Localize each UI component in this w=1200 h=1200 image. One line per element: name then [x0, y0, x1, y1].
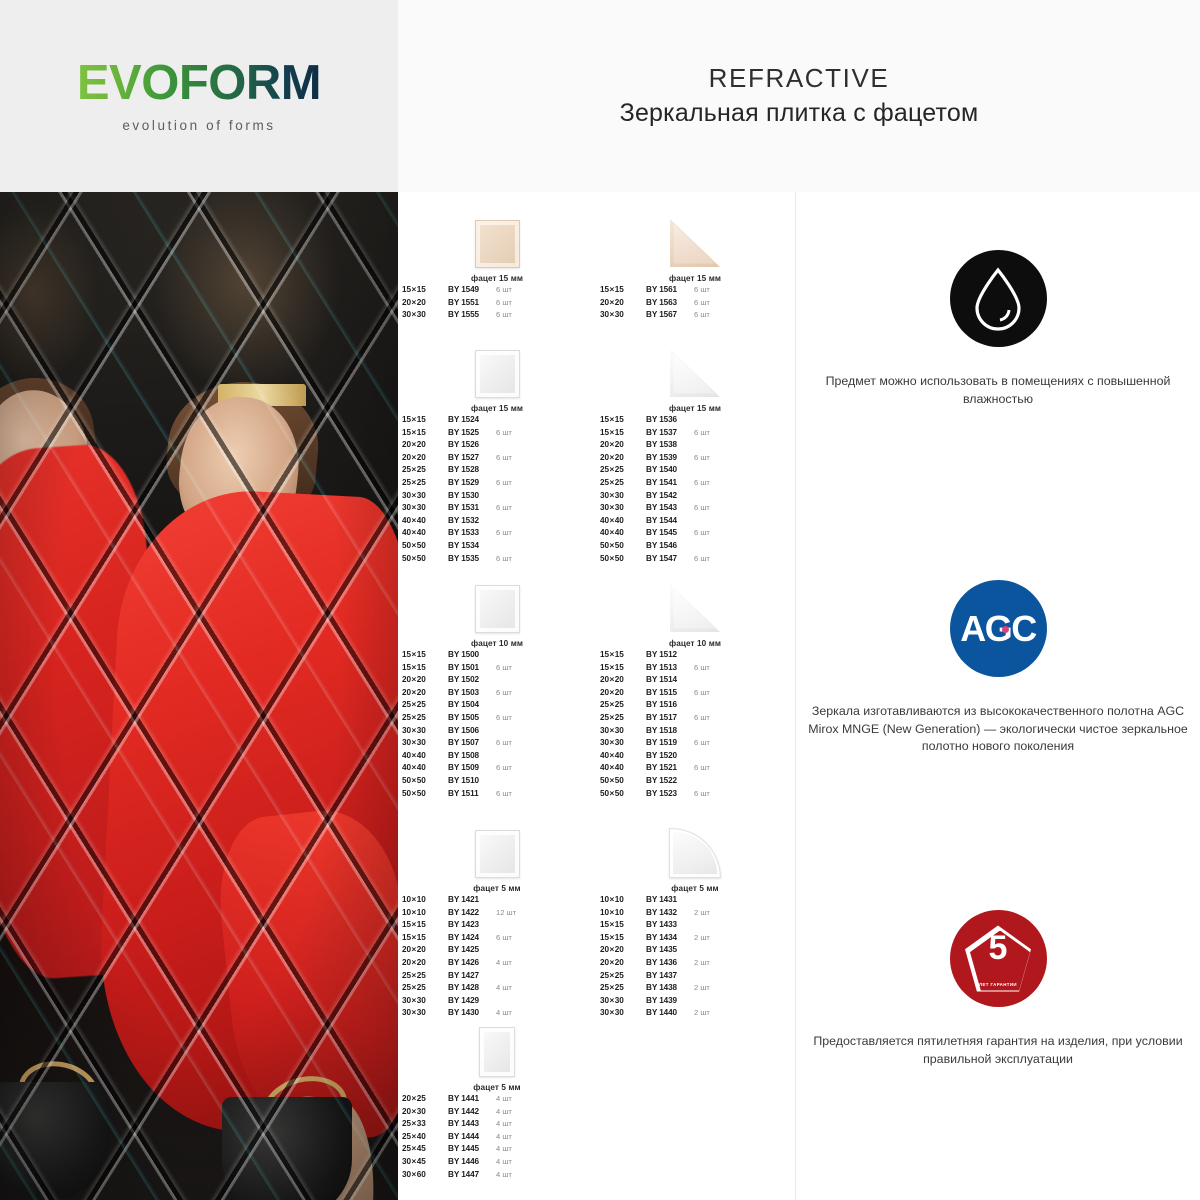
- cell-code: BY 1545: [646, 528, 694, 537]
- product-rows: 15 × 15BY 15616 шт20 × 20BY 15636 шт30 ×…: [596, 285, 794, 323]
- facet-label: фацет 10 мм: [596, 639, 794, 648]
- product-catalog: фацет 15 мм15 × 15BY 15496 шт20 × 20BY 1…: [398, 192, 795, 1200]
- cell-size: 15 × 15: [600, 285, 646, 294]
- table-row[interactable]: 50 × 50BY 1534: [402, 541, 596, 554]
- cell-quantity: 6 шт: [694, 298, 728, 307]
- table-row[interactable]: 20 × 20BY 1526: [402, 440, 596, 453]
- table-row[interactable]: 25 × 25BY 14382 шт: [600, 983, 794, 996]
- cell-size: 20 × 20: [600, 945, 646, 954]
- table-row[interactable]: 20 × 30BY 14424 шт: [402, 1107, 596, 1120]
- table-row[interactable]: 20 × 20BY 15036 шт: [402, 688, 596, 701]
- table-row[interactable]: 25 × 25BY 15176 шт: [600, 713, 794, 726]
- cell-size: 25 × 25: [600, 465, 646, 474]
- cell-code: BY 1540: [646, 465, 694, 474]
- catalog-column-silver-15-left: фацет 15 мм15 × 15BY 152415 × 15BY 15256…: [398, 336, 596, 566]
- cell-quantity: 6 шт: [496, 738, 530, 747]
- tile-swatch-wrap: [596, 206, 794, 268]
- cell-size: 20 × 20: [402, 298, 448, 307]
- table-row[interactable]: 40 × 40BY 15336 шт: [402, 528, 596, 541]
- table-row[interactable]: 15 × 15BY 1433: [600, 920, 794, 933]
- table-row[interactable]: 15 × 15BY 15016 шт: [402, 663, 596, 676]
- cell-quantity: 2 шт: [694, 933, 728, 942]
- cell-code: BY 1527: [448, 453, 496, 462]
- cell-code: BY 1421: [448, 895, 496, 904]
- table-row[interactable]: 50 × 50BY 15356 шт: [402, 554, 596, 567]
- table-row[interactable]: 20 × 20BY 15156 шт: [600, 688, 794, 701]
- product-rows: 15 × 15BY 151215 × 15BY 15136 шт20 × 20B…: [596, 650, 794, 801]
- cell-code: BY 1423: [448, 920, 496, 929]
- table-row[interactable]: 15 × 15BY 14342 шт: [600, 933, 794, 946]
- table-row[interactable]: 15 × 15BY 15376 шт: [600, 428, 794, 441]
- agc-logo-dot: [1002, 626, 1009, 633]
- cell-code: BY 1535: [448, 554, 496, 563]
- cell-size: 50 × 50: [402, 554, 448, 563]
- table-row[interactable]: 25 × 25BY 1504: [402, 700, 596, 713]
- cell-code: BY 1521: [646, 763, 694, 772]
- cell-quantity: 6 шт: [496, 763, 530, 772]
- cell-code: BY 1438: [646, 983, 694, 992]
- table-row[interactable]: 15 × 15BY 15616 шт: [600, 285, 794, 298]
- table-row[interactable]: 40 × 40BY 1520: [600, 751, 794, 764]
- cell-code: BY 1532: [448, 516, 496, 525]
- cell-code: BY 1505: [448, 713, 496, 722]
- table-row[interactable]: 10 × 10BY 1421: [402, 895, 596, 908]
- cell-size: 30 × 30: [402, 310, 448, 319]
- table-row[interactable]: 10 × 10BY 14322 шт: [600, 908, 794, 921]
- cell-quantity: 2 шт: [694, 958, 728, 967]
- table-row[interactable]: 25 × 45BY 14454 шт: [402, 1144, 596, 1157]
- cell-size: 25 × 25: [402, 971, 448, 980]
- cell-code: BY 1511: [448, 789, 496, 798]
- page-subtitle: Зеркальная плитка с фацетом: [620, 99, 979, 128]
- catalog-column-silver-15-right: фацет 15 мм15 × 15BY 153615 × 15BY 15376…: [596, 336, 794, 566]
- cell-code: BY 1546: [646, 541, 694, 550]
- table-row[interactable]: 25 × 33BY 14434 шт: [402, 1119, 596, 1132]
- agc-logo-icon: AGC: [950, 580, 1047, 677]
- warranty-caption: ЛЕТ ГАРАНТИИ: [965, 982, 1031, 987]
- cell-code: BY 1428: [448, 983, 496, 992]
- table-row[interactable]: 30 × 30BY 15676 шт: [600, 310, 794, 323]
- cell-size: 20 × 20: [402, 945, 448, 954]
- table-row[interactable]: 15 × 15BY 14246 шт: [402, 933, 596, 946]
- cell-code: BY 1446: [448, 1157, 496, 1166]
- cell-size: 25 × 25: [600, 478, 646, 487]
- table-row[interactable]: 30 × 30BY 15196 шт: [600, 738, 794, 751]
- cell-code: BY 1509: [448, 763, 496, 772]
- feature-moisture: Предмет можно использовать в помещениях …: [796, 250, 1200, 408]
- table-row[interactable]: 15 × 15BY 1423: [402, 920, 596, 933]
- cell-quantity: 6 шт: [694, 428, 728, 437]
- cell-size: 30 × 30: [600, 738, 646, 747]
- table-row[interactable]: 20 × 20BY 15636 шт: [600, 298, 794, 311]
- table-row[interactable]: 30 × 30BY 15556 шт: [402, 310, 596, 323]
- cell-quantity: 6 шт: [496, 298, 530, 307]
- cell-size: 50 × 50: [600, 776, 646, 785]
- cell-size: 20 × 20: [600, 298, 646, 307]
- cell-size: 10 × 10: [600, 895, 646, 904]
- cell-code: BY 1539: [646, 453, 694, 462]
- cell-code: BY 1508: [448, 751, 496, 760]
- cell-code: BY 1519: [646, 738, 694, 747]
- cell-size: 30 × 30: [402, 996, 448, 1005]
- table-row[interactable]: 20 × 20BY 1514: [600, 675, 794, 688]
- table-row[interactable]: 50 × 50BY 1546: [600, 541, 794, 554]
- cell-quantity: 4 шт: [496, 1170, 530, 1179]
- cell-size: 30 × 30: [600, 310, 646, 319]
- table-row[interactable]: 15 × 15BY 1500: [402, 650, 596, 663]
- table-row[interactable]: 25 × 25BY 15416 шт: [600, 478, 794, 491]
- product-rows: 15 × 15BY 152415 × 15BY 15256 шт20 × 20B…: [398, 415, 596, 566]
- table-row[interactable]: 50 × 50BY 15476 шт: [600, 554, 794, 567]
- cell-code: BY 1431: [646, 895, 694, 904]
- badge-holder: [796, 250, 1200, 347]
- logo-tagline: evolution of forms: [122, 118, 275, 133]
- cell-quantity: 6 шт: [694, 503, 728, 512]
- feature-description: Предоставляется пятилетняя гарантия на и…: [796, 1033, 1200, 1068]
- cell-quantity: 6 шт: [496, 933, 530, 942]
- cell-quantity: 6 шт: [694, 478, 728, 487]
- table-row[interactable]: 40 × 40BY 15216 шт: [600, 763, 794, 776]
- cell-size: 20 × 20: [402, 958, 448, 967]
- logo-area: EVOFORM evolution of forms: [0, 0, 398, 192]
- tile-swatch-wrap: [398, 336, 596, 398]
- table-row[interactable]: 30 × 30BY 15436 шт: [600, 503, 794, 516]
- cell-code: BY 1523: [646, 789, 694, 798]
- cell-code: BY 1516: [646, 700, 694, 709]
- cell-code: BY 1422: [448, 908, 496, 917]
- cell-size: 20 × 20: [600, 440, 646, 449]
- cell-size: 30 × 30: [600, 726, 646, 735]
- cell-size: 20 × 20: [402, 688, 448, 697]
- table-row[interactable]: 20 × 20BY 14264 шт: [402, 958, 596, 971]
- cell-quantity: 2 шт: [694, 983, 728, 992]
- tile-swatch-wrap: [398, 206, 596, 268]
- cell-code: BY 1551: [448, 298, 496, 307]
- cell-size: 25 × 25: [402, 700, 448, 709]
- cell-quantity: 6 шт: [496, 428, 530, 437]
- cell-size: 40 × 40: [600, 763, 646, 772]
- table-row[interactable]: 10 × 10BY 142212 шт: [402, 908, 596, 921]
- product-group-silver-15: фацет 15 мм15 × 15BY 152415 × 15BY 15256…: [398, 336, 795, 566]
- product-group-silver-5-rect: фацет 5 мм20 × 25BY 14414 шт20 × 30BY 14…: [398, 1015, 795, 1182]
- cell-size: 15 × 15: [600, 428, 646, 437]
- product-rows: 10 × 10BY 142110 × 10BY 142212 шт15 × 15…: [398, 895, 596, 1021]
- table-row[interactable]: 30 × 30BY 1530: [402, 491, 596, 504]
- cell-code: BY 1512: [646, 650, 694, 659]
- tile-swatch-triangle: [669, 218, 721, 268]
- table-row[interactable]: 50 × 50BY 1522: [600, 776, 794, 789]
- tile-swatch-square: [475, 220, 520, 268]
- cell-code: BY 1567: [646, 310, 694, 319]
- cell-code: BY 1541: [646, 478, 694, 487]
- table-row[interactable]: 25 × 25BY 1528: [402, 465, 596, 478]
- cell-code: BY 1436: [646, 958, 694, 967]
- catalog-column-silver-5-left: фацет 5 мм10 × 10BY 142110 × 10BY 142212…: [398, 816, 596, 1021]
- table-row[interactable]: 20 × 20BY 1425: [402, 945, 596, 958]
- tile-swatch-wrap: [596, 571, 794, 633]
- table-row[interactable]: 30 × 30BY 1518: [600, 726, 794, 739]
- cell-size: 50 × 50: [402, 776, 448, 785]
- table-row[interactable]: 30 × 30BY 15076 шт: [402, 738, 596, 751]
- facet-label: фацет 5 мм: [398, 884, 596, 893]
- table-row[interactable]: 20 × 20BY 15396 шт: [600, 453, 794, 466]
- cell-code: BY 1513: [646, 663, 694, 672]
- hero-photo: [0, 192, 398, 1200]
- cell-size: 15 × 15: [402, 415, 448, 424]
- cell-quantity: 4 шт: [496, 1119, 530, 1128]
- cell-size: 25 × 25: [402, 713, 448, 722]
- cell-size: 10 × 10: [402, 895, 448, 904]
- table-row[interactable]: 40 × 40BY 1544: [600, 516, 794, 529]
- page-title: REFRACTIVE: [709, 64, 890, 94]
- cell-code: BY 1424: [448, 933, 496, 942]
- cell-code: BY 1426: [448, 958, 496, 967]
- feature-warranty: 5ЛЕТ ГАРАНТИИПредоставляется пятилетняя …: [796, 910, 1200, 1068]
- cell-quantity: 6 шт: [496, 554, 530, 563]
- cell-size: 15 × 15: [600, 933, 646, 942]
- table-row[interactable]: 10 × 10BY 1431: [600, 895, 794, 908]
- title-area: REFRACTIVE Зеркальная плитка с фацетом: [398, 0, 1200, 192]
- table-row[interactable]: 40 × 40BY 1532: [402, 516, 596, 529]
- cell-code: BY 1504: [448, 700, 496, 709]
- cell-size: 10 × 10: [402, 908, 448, 917]
- cell-size: 25 × 25: [402, 983, 448, 992]
- table-row[interactable]: 25 × 25BY 1427: [402, 971, 596, 984]
- table-row[interactable]: 25 × 25BY 1540: [600, 465, 794, 478]
- features-panel: Предмет можно использовать в помещениях …: [796, 192, 1200, 1200]
- table-row[interactable]: 20 × 20BY 14362 шт: [600, 958, 794, 971]
- cell-quantity: 6 шт: [496, 688, 530, 697]
- cell-code: BY 1517: [646, 713, 694, 722]
- table-row[interactable]: 30 × 30BY 1429: [402, 996, 596, 1009]
- cell-quantity: 12 шт: [496, 908, 530, 917]
- cell-size: 20 × 20: [600, 688, 646, 697]
- page-header: EVOFORM evolution of forms REFRACTIVE Зе…: [0, 0, 1200, 192]
- table-row[interactable]: 25 × 25BY 15296 шт: [402, 478, 596, 491]
- tile-swatch-square: [475, 585, 520, 633]
- cell-quantity: 4 шт: [496, 983, 530, 992]
- cell-size: 20 × 20: [600, 675, 646, 684]
- cell-code: BY 1435: [646, 945, 694, 954]
- cell-code: BY 1538: [646, 440, 694, 449]
- tile-swatch-square: [475, 350, 520, 398]
- cell-size: 30 × 45: [402, 1157, 448, 1166]
- cell-size: 15 × 15: [402, 285, 448, 294]
- cell-quantity: 6 шт: [496, 713, 530, 722]
- cell-code: BY 1542: [646, 491, 694, 500]
- cell-size: 25 × 25: [600, 713, 646, 722]
- cell-quantity: 6 шт: [496, 453, 530, 462]
- table-row[interactable]: 25 × 25BY 1437: [600, 971, 794, 984]
- cell-size: 15 × 15: [402, 663, 448, 672]
- cell-size: 20 × 25: [402, 1094, 448, 1103]
- table-row[interactable]: 20 × 20BY 15276 шт: [402, 453, 596, 466]
- catalog-column-empty: [596, 1015, 794, 1182]
- cell-size: 50 × 50: [402, 541, 448, 550]
- table-row[interactable]: 40 × 40BY 15096 шт: [402, 763, 596, 776]
- cell-size: 20 × 30: [402, 1107, 448, 1116]
- cell-size: 40 × 40: [402, 516, 448, 525]
- cell-quantity: 6 шт: [496, 503, 530, 512]
- facet-label: фацет 15 мм: [596, 404, 794, 413]
- cell-quantity: 6 шт: [694, 554, 728, 563]
- tile-swatch-wrap: [398, 816, 596, 878]
- cell-quantity: 6 шт: [694, 789, 728, 798]
- cell-quantity: 6 шт: [694, 453, 728, 462]
- cell-code: BY 1526: [448, 440, 496, 449]
- table-row[interactable]: 20 × 20BY 1538: [600, 440, 794, 453]
- table-row[interactable]: 50 × 50BY 1510: [402, 776, 596, 789]
- table-row[interactable]: 30 × 30BY 15316 шт: [402, 503, 596, 516]
- cell-code: BY 1528: [448, 465, 496, 474]
- table-row[interactable]: 15 × 15BY 15496 шт: [402, 285, 596, 298]
- product-group-silver-10: фацет 10 мм15 × 15BY 150015 × 15BY 15016…: [398, 571, 795, 801]
- warranty-5-years-icon: 5ЛЕТ ГАРАНТИИ: [950, 910, 1047, 1007]
- product-rows: 15 × 15BY 153615 × 15BY 15376 шт20 × 20B…: [596, 415, 794, 566]
- tile-swatch-triangle: [669, 583, 721, 633]
- table-row[interactable]: 25 × 25BY 1516: [600, 700, 794, 713]
- warranty-number: 5: [965, 931, 1031, 965]
- table-row[interactable]: 40 × 40BY 1508: [402, 751, 596, 764]
- cell-size: 40 × 40: [402, 763, 448, 772]
- table-row[interactable]: 20 × 20BY 1502: [402, 675, 596, 688]
- cell-quantity: 6 шт: [694, 528, 728, 537]
- tile-swatch-square: [475, 830, 520, 878]
- cell-quantity: 6 шт: [496, 310, 530, 319]
- cell-code: BY 1537: [646, 428, 694, 437]
- cell-size: 15 × 15: [402, 920, 448, 929]
- table-row[interactable]: 40 × 40BY 15456 шт: [600, 528, 794, 541]
- cell-size: 40 × 40: [600, 528, 646, 537]
- cell-size: 25 × 25: [600, 700, 646, 709]
- cell-size: 20 × 20: [402, 453, 448, 462]
- cell-code: BY 1510: [448, 776, 496, 785]
- cell-size: 40 × 40: [402, 528, 448, 537]
- cell-size: 15 × 15: [600, 663, 646, 672]
- product-rows: 15 × 15BY 15496 шт20 × 20BY 15516 шт30 ×…: [398, 285, 596, 323]
- table-row[interactable]: 50 × 50BY 15116 шт: [402, 789, 596, 802]
- cell-code: BY 1525: [448, 428, 496, 437]
- cell-code: BY 1547: [646, 554, 694, 563]
- table-row[interactable]: 25 × 40BY 14444 шт: [402, 1132, 596, 1145]
- table-row[interactable]: 30 × 30BY 1542: [600, 491, 794, 504]
- feature-agc: AGCЗеркала изготавливаются из высококаче…: [796, 580, 1200, 756]
- feature-description: Зеркала изготавливаются из высококачеств…: [796, 703, 1200, 756]
- cell-size: 25 × 40: [402, 1132, 448, 1141]
- cell-code: BY 1563: [646, 298, 694, 307]
- cell-code: BY 1520: [646, 751, 694, 760]
- cell-size: 25 × 45: [402, 1144, 448, 1153]
- catalog-column-silver-10-right: фацет 10 мм15 × 15BY 151215 × 15BY 15136…: [596, 571, 794, 801]
- cell-code: BY 1442: [448, 1107, 496, 1116]
- cell-quantity: 6 шт: [496, 478, 530, 487]
- cell-size: 30 × 30: [600, 996, 646, 1005]
- cell-size: 15 × 15: [600, 650, 646, 659]
- catalog-column-silver-10-left: фацет 10 мм15 × 15BY 150015 × 15BY 15016…: [398, 571, 596, 801]
- cell-code: BY 1441: [448, 1094, 496, 1103]
- cell-size: 30 × 30: [402, 491, 448, 500]
- tile-swatch-wrap: [398, 1015, 596, 1077]
- cell-code: BY 1514: [646, 675, 694, 684]
- cell-code: BY 1433: [646, 920, 694, 929]
- cell-quantity: 6 шт: [694, 763, 728, 772]
- facet-label: фацет 10 мм: [398, 639, 596, 648]
- cell-code: BY 1555: [448, 310, 496, 319]
- table-row[interactable]: 50 × 50BY 15236 шт: [600, 789, 794, 802]
- table-row[interactable]: 15 × 15BY 1524: [402, 415, 596, 428]
- cell-quantity: 4 шт: [496, 958, 530, 967]
- cell-code: BY 1522: [646, 776, 694, 785]
- cell-size: 30 × 30: [600, 491, 646, 500]
- catalog-page: EVOFORM evolution of forms REFRACTIVE Зе…: [0, 0, 1200, 1200]
- cell-code: BY 1445: [448, 1144, 496, 1153]
- cell-size: 15 × 15: [402, 650, 448, 659]
- tile-swatch-rectangle: [479, 1027, 515, 1077]
- cell-size: 20 × 20: [402, 440, 448, 449]
- cell-quantity: 4 шт: [496, 1144, 530, 1153]
- cell-code: BY 1429: [448, 996, 496, 1005]
- table-row[interactable]: 15 × 15BY 15136 шт: [600, 663, 794, 676]
- cell-code: BY 1500: [448, 650, 496, 659]
- product-rows: 15 × 15BY 150015 × 15BY 15016 шт20 × 20B…: [398, 650, 596, 801]
- badge-holder: 5ЛЕТ ГАРАНТИИ: [796, 910, 1200, 1007]
- table-row[interactable]: 25 × 25BY 14284 шт: [402, 983, 596, 996]
- cell-code: BY 1507: [448, 738, 496, 747]
- product-group-bronze-15: фацет 15 мм15 × 15BY 15496 шт20 × 20BY 1…: [398, 206, 795, 323]
- agc-logo-text: AGC: [960, 611, 1036, 647]
- cell-size: 50 × 50: [402, 789, 448, 798]
- cell-code: BY 1549: [448, 285, 496, 294]
- table-row[interactable]: 25 × 25BY 15056 шт: [402, 713, 596, 726]
- table-row[interactable]: 30 × 30BY 1439: [600, 996, 794, 1009]
- cell-code: BY 1534: [448, 541, 496, 550]
- cell-size: 40 × 40: [402, 751, 448, 760]
- table-row[interactable]: 30 × 60BY 14474 шт: [402, 1170, 596, 1183]
- cell-size: 15 × 15: [402, 933, 448, 942]
- cell-size: 20 × 20: [600, 453, 646, 462]
- facet-label: фацет 5 мм: [596, 884, 794, 893]
- cell-quantity: 6 шт: [694, 663, 728, 672]
- cell-size: 10 × 10: [600, 908, 646, 917]
- cell-quantity: 6 шт: [694, 310, 728, 319]
- table-row[interactable]: 30 × 30BY 1506: [402, 726, 596, 739]
- cell-size: 50 × 50: [600, 554, 646, 563]
- table-row[interactable]: 15 × 15BY 1512: [600, 650, 794, 663]
- cell-code: BY 1515: [646, 688, 694, 697]
- cell-code: BY 1501: [448, 663, 496, 672]
- table-row[interactable]: 15 × 15BY 1536: [600, 415, 794, 428]
- cell-size: 25 × 25: [600, 983, 646, 992]
- table-row[interactable]: 15 × 15BY 15256 шт: [402, 428, 596, 441]
- cell-quantity: 6 шт: [496, 789, 530, 798]
- evoform-logo-wordmark: EVOFORM: [77, 59, 321, 108]
- cell-code: BY 1503: [448, 688, 496, 697]
- cell-code: BY 1524: [448, 415, 496, 424]
- table-row[interactable]: 20 × 25BY 14414 шт: [402, 1094, 596, 1107]
- table-row[interactable]: 30 × 45BY 14464 шт: [402, 1157, 596, 1170]
- table-row[interactable]: 20 × 20BY 1435: [600, 945, 794, 958]
- tile-swatch-quarter-circle: [669, 828, 721, 878]
- catalog-column-bronze-15-right: фацет 15 мм15 × 15BY 15616 шт20 × 20BY 1…: [596, 206, 794, 323]
- cell-code: BY 1425: [448, 945, 496, 954]
- cell-code: BY 1529: [448, 478, 496, 487]
- cell-size: 15 × 15: [600, 920, 646, 929]
- cell-quantity: 6 шт: [496, 285, 530, 294]
- cell-code: BY 1543: [646, 503, 694, 512]
- cell-code: BY 1443: [448, 1119, 496, 1128]
- facet-label: фацет 15 мм: [596, 274, 794, 283]
- table-row[interactable]: 20 × 20BY 15516 шт: [402, 298, 596, 311]
